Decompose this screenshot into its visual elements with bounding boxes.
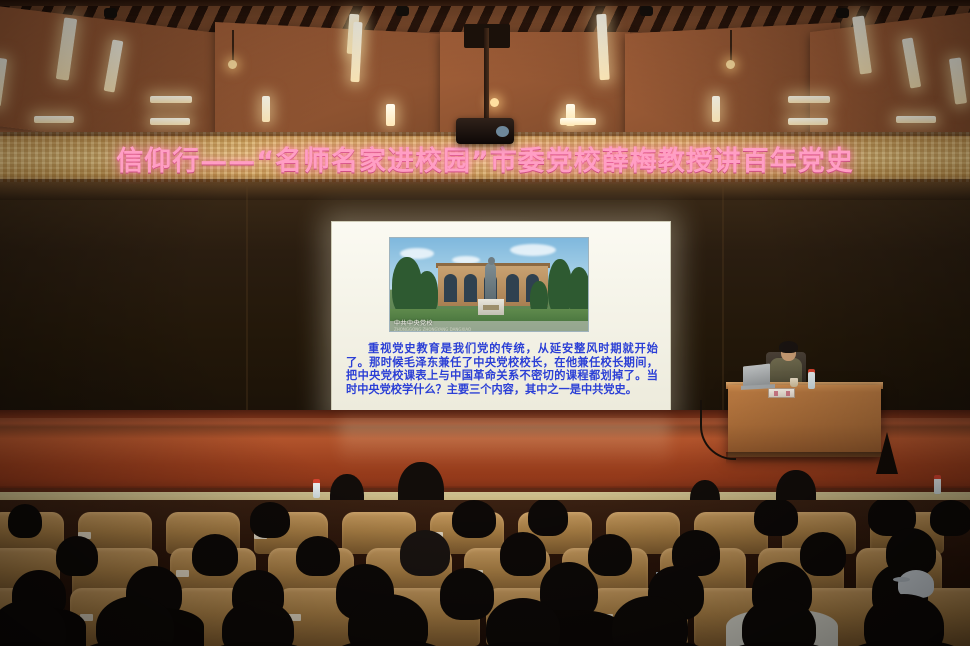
slide-body-text: 重视党史教育是我们党的传统，从延安整风时期就开始了。那时候毛泽东兼任了中央党校校… xyxy=(346,342,658,396)
pendant-lamp xyxy=(490,98,499,107)
ceiling-spotlight xyxy=(836,8,849,18)
audience-head xyxy=(800,532,846,576)
audience-head xyxy=(8,504,42,538)
photo-caption: 中共中央党校 xyxy=(394,318,433,327)
projector-mount-pole xyxy=(484,28,489,128)
nameplate-mark xyxy=(774,391,778,396)
ceiling-light-strip xyxy=(262,96,270,122)
audience-head xyxy=(296,536,340,576)
pendant-lamp xyxy=(228,60,237,69)
backdrop-seam xyxy=(246,186,248,414)
ceiling-spotlight xyxy=(640,6,653,16)
backdrop-seam xyxy=(722,186,724,414)
slide-photo: 中共中央党校 ZHONGGONG ZHONGYANG DANGXIAO xyxy=(389,237,589,332)
audience-head xyxy=(192,534,238,576)
front-row-bottle xyxy=(934,478,941,494)
speaker-stand xyxy=(876,432,898,474)
slide-background: 中共中央党校 ZHONGGONG ZHONGYANG DANGXIAO 重视党史… xyxy=(332,222,670,420)
projected-slide: 中共中央党校 ZHONGGONG ZHONGYANG DANGXIAO 重视党史… xyxy=(331,221,671,421)
ceiling-light-strip xyxy=(386,104,395,126)
building-arch xyxy=(506,274,519,302)
ceiling-light-strip xyxy=(788,118,828,125)
cloud xyxy=(510,244,556,256)
slide-paragraph: 重视党史教育是我们党的传统，从延安整风时期就开始了。那时候毛泽东兼任了中央党校校… xyxy=(346,342,658,396)
pendant-lamp-stem xyxy=(232,30,234,62)
audience-head xyxy=(930,500,970,536)
audience-head xyxy=(588,534,632,576)
pendant-lamp-stem xyxy=(730,30,732,62)
table-shadow xyxy=(726,452,883,464)
audience-area xyxy=(0,500,970,646)
audience-head xyxy=(250,502,290,538)
ceiling-light-strip xyxy=(150,96,192,103)
audience-head xyxy=(452,500,496,538)
audience-head xyxy=(440,568,494,620)
ceiling-light-strip xyxy=(150,118,190,125)
mao-statue-head xyxy=(488,257,495,265)
stage-screen-reflection xyxy=(340,420,670,476)
front-row-bottle xyxy=(313,482,320,498)
ceiling-light-strip xyxy=(560,118,596,125)
water-bottle xyxy=(808,372,815,389)
audience-head xyxy=(528,500,568,536)
lecture-table xyxy=(728,385,881,457)
auditorium-scene: 信仰行——“名师名家进校园”市委党校薛梅教授讲百年党史 xyxy=(0,0,970,646)
building-arch xyxy=(444,274,457,302)
audience-head xyxy=(754,500,798,536)
ceiling-light-strip xyxy=(896,116,936,123)
seat-number-tag xyxy=(176,570,189,577)
pendant-lamp xyxy=(726,60,735,69)
building-arch xyxy=(464,274,477,302)
photo-subcaption: ZHONGGONG ZHONGYANG DANGXIAO xyxy=(394,327,471,332)
ceiling-light-strip xyxy=(34,116,74,123)
ceiling-light-strip xyxy=(788,96,830,103)
statue-plaque xyxy=(483,305,499,310)
ceiling-panel xyxy=(215,22,445,135)
tree xyxy=(568,267,589,315)
nameplate-mark xyxy=(786,391,790,396)
speaker-nameplate xyxy=(768,388,795,398)
backdrop-top-sheen xyxy=(0,182,970,200)
ceiling-light-strip xyxy=(712,96,720,122)
speaker-hair xyxy=(779,341,798,353)
projector-lens-icon xyxy=(496,126,509,137)
mao-statue-body xyxy=(485,263,496,301)
ceiling-spotlight xyxy=(104,8,117,18)
audience-head xyxy=(56,536,98,576)
audience-head xyxy=(500,532,546,576)
ceiling-spotlight xyxy=(396,6,409,16)
audience-head xyxy=(400,530,450,576)
teacup xyxy=(790,378,798,387)
